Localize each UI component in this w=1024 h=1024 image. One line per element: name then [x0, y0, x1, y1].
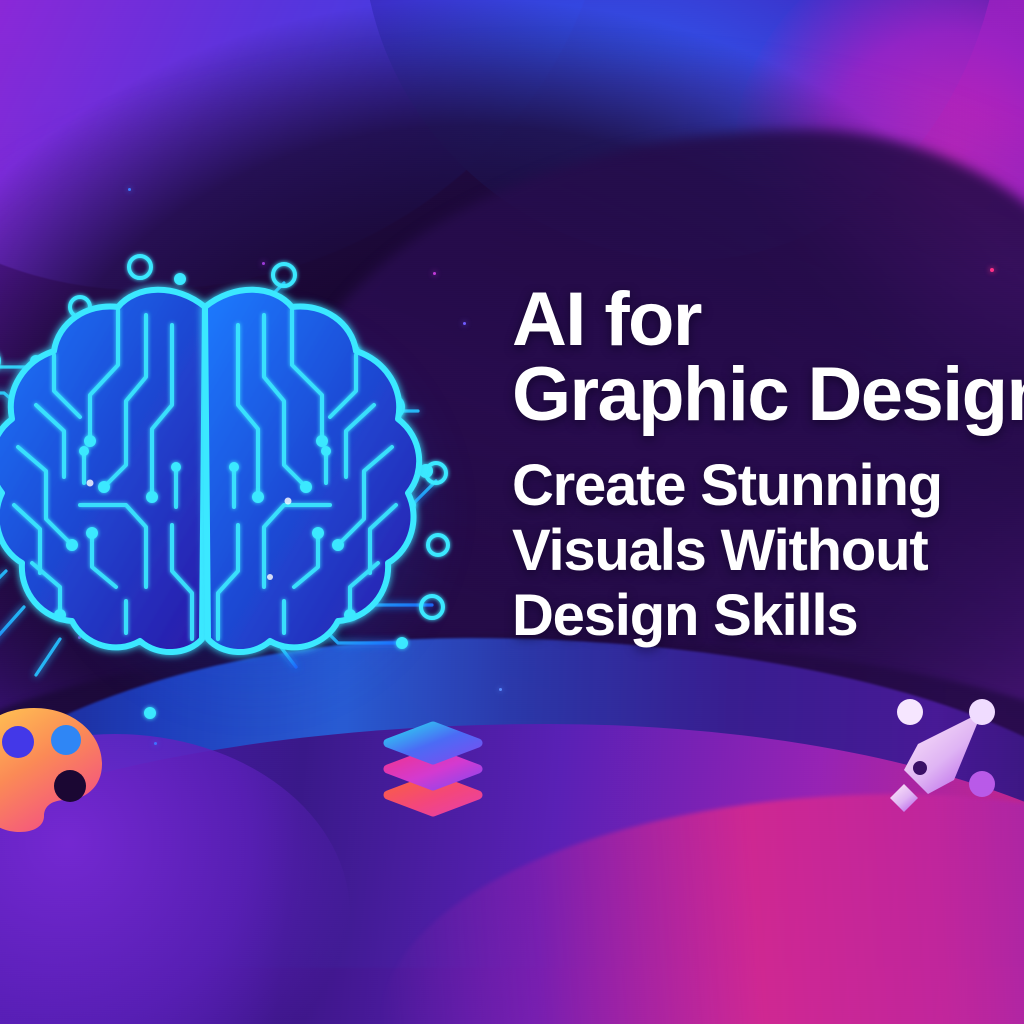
wave-bottom-magenta [380, 794, 1024, 1024]
page-subtitle: Create Stunning Visuals Without Design S… [512, 454, 1024, 649]
sparkle-dot [128, 188, 131, 191]
sparkle-dot [990, 268, 994, 272]
headline-line-2: Graphic Design [512, 357, 1024, 432]
headline-line-1: AI for [512, 282, 1024, 357]
text-block: AI for Graphic Design Create Stunning Vi… [512, 282, 1024, 649]
ai-circuit-brain [0, 215, 470, 715]
page-title: AI for Graphic Design [512, 282, 1024, 432]
subhead-line-1: Create Stunning [512, 454, 1024, 519]
sparkle-dot [154, 742, 157, 745]
palette-icon [0, 702, 114, 832]
subhead-line-2: Visuals Without [512, 519, 1024, 584]
layers-icon [382, 716, 484, 820]
banner-canvas: AI for Graphic Design Create Stunning Vi… [0, 0, 1024, 1024]
sparkle-dot [499, 688, 502, 691]
subhead-line-3: Design Skills [512, 584, 1024, 649]
pen-tool-icon [884, 696, 1006, 820]
